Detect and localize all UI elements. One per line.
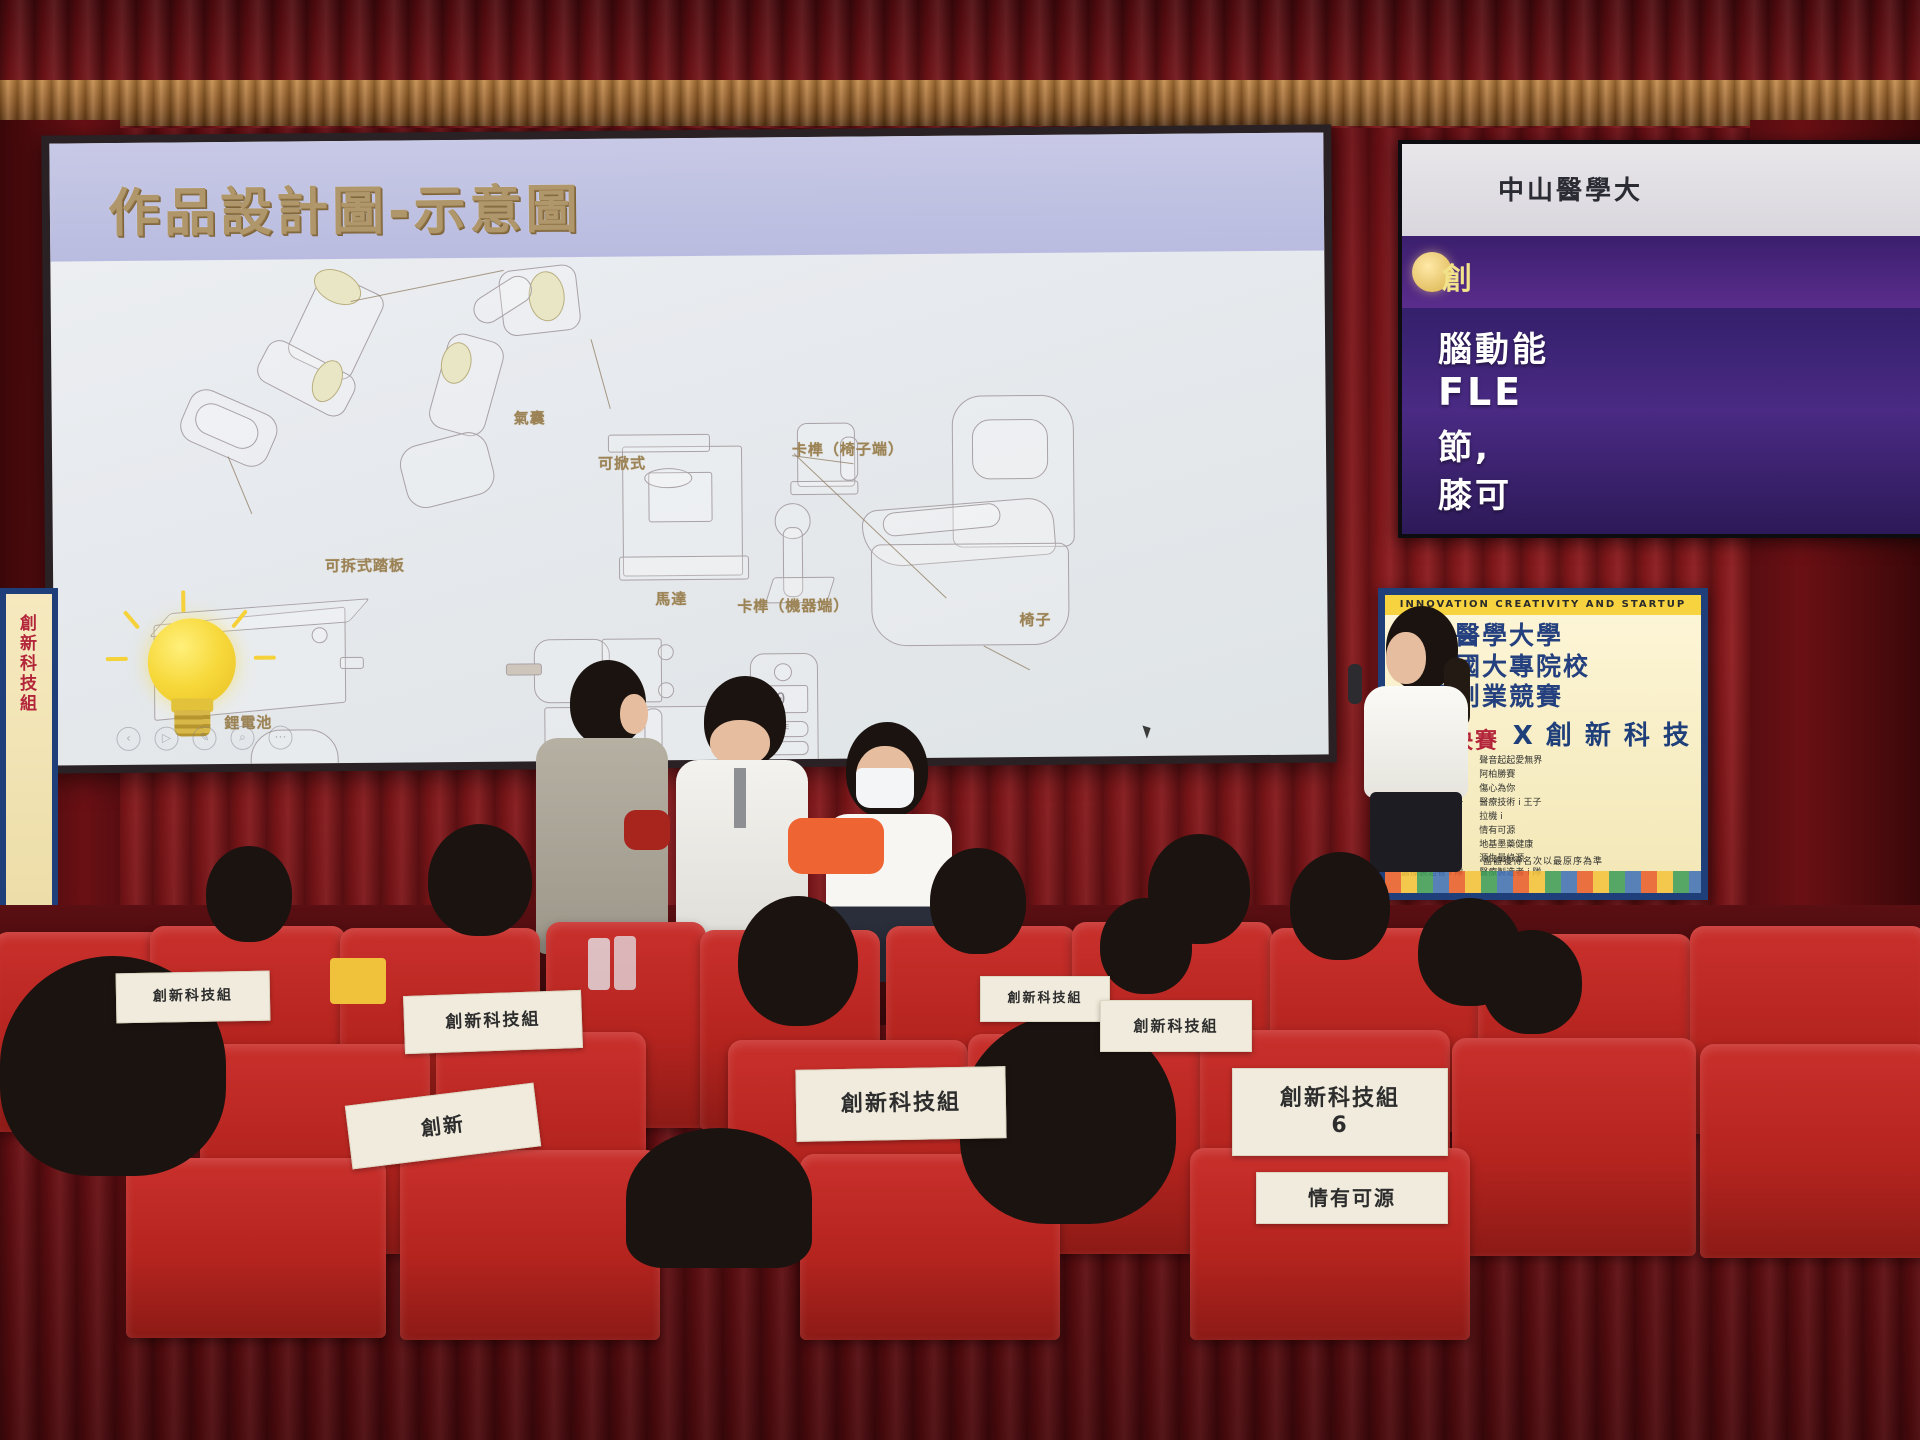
label-detach-pedal: 可拆式踏板	[325, 554, 405, 576]
presentation-controls[interactable]: ‹ ▷ ✎ ⌕ ⋯	[116, 725, 292, 751]
seat-placard-line1: 情有可源	[1308, 1186, 1396, 1211]
audience-head	[626, 1128, 812, 1268]
monitor-header-text: 中山醫學大	[1498, 170, 1643, 207]
zoom-tool-icon[interactable]: ⌕	[230, 726, 254, 750]
poster-color-strip	[1385, 871, 1701, 893]
seat-placard: 創新科技組	[980, 976, 1110, 1022]
secondary-monitor: 中山醫學大 創 腦動能 FLE 節, 膝可	[1398, 140, 1920, 538]
seat-placard: 創新科技組	[116, 971, 271, 1024]
audience-head	[930, 848, 1026, 954]
presenter-left	[532, 660, 662, 960]
curtain-pelmet-trim	[0, 80, 1920, 126]
monitor-line-2: FLE	[1438, 370, 1523, 414]
play-slide-icon[interactable]: ▷	[154, 726, 178, 750]
seat-placard: 情有可源	[1256, 1172, 1448, 1224]
seat-row3-1	[126, 1158, 386, 1338]
presenter-left-held-object	[624, 810, 670, 850]
seat-placard-line1: 創新科技組	[153, 988, 233, 1007]
seat-placard-line1: 創新科技組	[841, 1089, 961, 1119]
presenter-right-face-mask	[856, 768, 914, 808]
projection-screen: 作品設計圖-示意圖	[49, 132, 1328, 765]
menu-icon[interactable]: ⋯	[268, 725, 292, 749]
monitor-header: 中山醫學大	[1402, 144, 1920, 236]
audience-head	[738, 896, 858, 1026]
circuit-terminal-1	[658, 644, 674, 660]
battery-connector	[340, 657, 364, 669]
label-motor: 馬達	[655, 588, 687, 609]
seat-placard-line1: 創新科技組	[445, 1010, 541, 1035]
seat-placard: 創新科技組 6	[1232, 1068, 1448, 1156]
audience-head	[1052, 1090, 1170, 1210]
host-face	[1386, 632, 1426, 684]
seat-placard: 創新科技組	[1100, 1000, 1252, 1052]
bulb-glass	[147, 618, 236, 707]
bulb-ray	[106, 657, 128, 661]
leader-line-flip	[591, 339, 611, 409]
massager-foot-b	[396, 428, 499, 512]
left-poster: 創新科技組	[0, 588, 58, 930]
label-latch-machine: 卡榫（機器端）	[737, 595, 849, 617]
seat-placard-line1: 創新科技組	[1133, 1017, 1218, 1036]
monitor-line-3: 節,	[1438, 420, 1491, 469]
microphone-icon	[1348, 664, 1362, 704]
yellow-bag	[330, 958, 386, 1004]
slide-title: 作品設計圖-示意圖	[108, 167, 582, 246]
audience-head	[1482, 930, 1582, 1034]
presenter-center-lanyard	[734, 768, 746, 828]
monitor-line-4: 膝可	[1438, 468, 1512, 517]
leader-line-chair	[983, 645, 1030, 670]
host-torso	[1364, 686, 1468, 798]
poster-brand: X 創 新 科 技	[1513, 715, 1691, 752]
seat-placard-line1: 創新	[420, 1111, 467, 1141]
host-presenter	[1352, 606, 1472, 866]
audience-head	[1290, 852, 1390, 960]
seat-placard-line1: 創新科技組	[1007, 991, 1082, 1007]
host-trousers	[1370, 792, 1462, 872]
presenter-left-face	[620, 694, 648, 734]
seat-row2-6	[1452, 1038, 1696, 1256]
label-chair: 椅子	[1019, 609, 1051, 630]
label-airbag: 氣囊	[514, 407, 546, 428]
chair-base	[871, 543, 1070, 647]
prev-slide-icon[interactable]: ‹	[116, 727, 140, 751]
seat-placard: 創新科技組	[795, 1066, 1006, 1142]
bulb-ray	[231, 609, 248, 629]
presenter-right-held-device	[788, 818, 884, 874]
seat-placard-line1: 創新科技組	[1280, 1085, 1400, 1113]
monitor-banner-text: 創	[1442, 254, 1476, 298]
water-bottle	[588, 938, 610, 990]
audience-head	[206, 846, 292, 942]
monitor-banner: 創	[1402, 236, 1920, 308]
seat-row3-2	[400, 1150, 660, 1340]
left-poster-text: 創新科技組	[14, 614, 39, 714]
monitor-line-1: 腦動能	[1438, 322, 1549, 371]
motor-base	[619, 555, 749, 580]
pen-tool-icon[interactable]: ✎	[192, 726, 216, 750]
chair-headrest	[972, 419, 1049, 480]
seat-placard: 創新科技組	[403, 990, 583, 1054]
bulb-ray	[254, 656, 276, 660]
seat-placard-line2: 6	[1331, 1112, 1348, 1140]
label-flip-type: 可掀式	[598, 452, 646, 473]
motor-top-plate	[608, 434, 710, 453]
monitor-content: 腦動能 FLE 節, 膝可	[1402, 308, 1920, 534]
bulb-ray	[181, 590, 185, 612]
label-latch-chair: 卡榫（椅子端）	[792, 438, 904, 460]
bulb-ray	[123, 610, 140, 629]
battery-led	[312, 627, 328, 643]
seat-row2-7	[1700, 1044, 1920, 1258]
screenshot-root: 作品設計圖-示意圖	[0, 0, 1920, 1440]
audience-head	[428, 824, 532, 936]
water-bottle	[614, 936, 636, 990]
audience-head	[1100, 898, 1192, 994]
